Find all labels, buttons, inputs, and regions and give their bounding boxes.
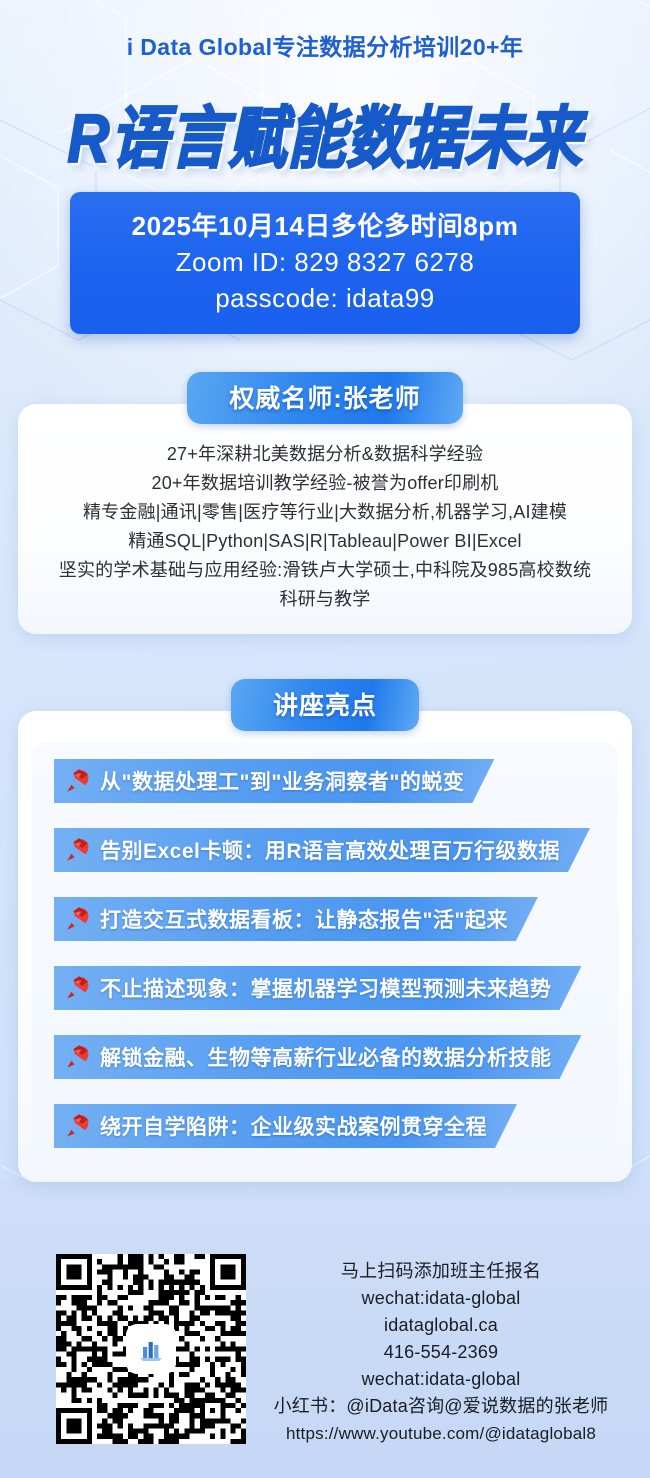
page-title: R语言赋能数据未来 bbox=[0, 84, 650, 156]
contact-wechat-alt: wechat:idata-global bbox=[246, 1366, 636, 1393]
pushpin-icon bbox=[66, 767, 92, 795]
credential-line: 精专金融|通讯|零售|医疗等行业|大数据分析,机器学习,AI建模 bbox=[30, 498, 620, 527]
meeting-info-box: 2025年10月14日多伦多时间8pm Zoom ID: 829 8327 62… bbox=[70, 192, 580, 334]
highlight-text: 告别Excel卡顿：用R语言高效处理百万行级数据 bbox=[100, 835, 560, 865]
brand-tagline: i Data Global专注数据分析培训20+年 bbox=[0, 0, 650, 62]
highlight-bar: 从"数据处理工"到"业务洞察者"的蜕变 bbox=[54, 759, 494, 803]
credential-line: 精通SQL|Python|SAS|R|Tableau|Power BI|Exce… bbox=[30, 527, 620, 556]
meeting-passcode: passcode: idata99 bbox=[80, 280, 570, 316]
idata-global-logo bbox=[128, 1326, 174, 1372]
meeting-zoom-id: Zoom ID: 829 8327 6278 bbox=[80, 244, 570, 280]
footer: 马上扫码添加班主任报名 wechat:idata-global idataglo… bbox=[0, 1248, 650, 1468]
contact-cta: 马上扫码添加班主任报名 bbox=[246, 1258, 636, 1285]
highlight-bar: 打造交互式数据看板：让静态报告"活"起来 bbox=[54, 897, 538, 941]
list-item: 从"数据处理工"到"业务洞察者"的蜕变 bbox=[32, 759, 618, 803]
instructor-section-tab: 权威名师:张老师 bbox=[187, 372, 462, 424]
bar-chart-icon bbox=[135, 1333, 167, 1365]
list-item: 告别Excel卡顿：用R语言高效处理百万行级数据 bbox=[32, 828, 618, 872]
credential-line: 坚实的学术基础与应用经验:滑铁卢大学硕士,中科院及985高校数统科研与教学 bbox=[30, 556, 620, 614]
instructor-section: 权威名师:张老师 27+年深耕北美数据分析&数据科学经验 20+年数据培训教学经… bbox=[18, 372, 632, 634]
credential-line: 20+年数据培训教学经验-被誉为offer印刷机 bbox=[30, 469, 620, 498]
pushpin-icon bbox=[66, 1043, 92, 1071]
list-item: 绕开自学陷阱：企业级实战案例贯穿全程 bbox=[32, 1104, 618, 1148]
highlight-text: 不止描述现象：掌握机器学习模型预测未来趋势 bbox=[100, 973, 552, 1003]
highlight-bar: 告别Excel卡顿：用R语言高效处理百万行级数据 bbox=[54, 828, 590, 872]
contact-wechat: wechat:idata-global bbox=[246, 1285, 636, 1312]
pushpin-icon bbox=[66, 836, 92, 864]
highlight-text: 绕开自学陷阱：企业级实战案例贯穿全程 bbox=[100, 1111, 487, 1141]
instructor-card: 27+年深耕北美数据分析&数据科学经验 20+年数据培训教学经验-被誉为offe… bbox=[18, 404, 632, 634]
highlights-list: 从"数据处理工"到"业务洞察者"的蜕变 告别Excel卡顿：用R语言高效处理百 bbox=[32, 743, 618, 1164]
list-item: 解锁金融、生物等高薪行业必备的数据分析技能 bbox=[32, 1035, 618, 1079]
highlights-section: 讲座亮点 从"数据处理工"到"业务洞察者"的蜕变 bbox=[18, 679, 632, 1182]
highlight-text: 打造交互式数据看板：让静态报告"活"起来 bbox=[100, 904, 508, 934]
main-title-text: R语言赋能数据未来 bbox=[68, 84, 583, 181]
credential-line: 27+年深耕北美数据分析&数据科学经验 bbox=[30, 440, 620, 469]
highlight-bar: 解锁金融、生物等高薪行业必备的数据分析技能 bbox=[54, 1035, 582, 1079]
list-item: 打造交互式数据看板：让静态报告"活"起来 bbox=[32, 897, 618, 941]
highlights-section-tab: 讲座亮点 bbox=[231, 679, 419, 731]
qr-code[interactable] bbox=[56, 1254, 246, 1444]
contact-youtube: https://www.youtube.com/@idataglobal8 bbox=[246, 1420, 636, 1447]
highlight-text: 解锁金融、生物等高薪行业必备的数据分析技能 bbox=[100, 1042, 552, 1072]
meeting-datetime: 2025年10月14日多伦多时间8pm bbox=[80, 208, 570, 244]
contact-website: idataglobal.ca bbox=[246, 1312, 636, 1339]
contact-block: 马上扫码添加班主任报名 wechat:idata-global idataglo… bbox=[246, 1258, 650, 1447]
list-item: 不止描述现象：掌握机器学习模型预测未来趋势 bbox=[32, 966, 618, 1010]
pushpin-icon bbox=[66, 905, 92, 933]
highlight-bar: 不止描述现象：掌握机器学习模型预测未来趋势 bbox=[54, 966, 582, 1010]
pushpin-icon bbox=[66, 974, 92, 1002]
poster-root: i Data Global专注数据分析培训20+年 R语言赋能数据未来 2025… bbox=[0, 0, 650, 1478]
pushpin-icon bbox=[66, 1112, 92, 1140]
contact-phone: 416-554-2369 bbox=[246, 1339, 636, 1366]
contact-xiaohongshu: 小红书：@iData咨询@爱说数据的张老师 bbox=[246, 1393, 636, 1420]
highlights-card: 从"数据处理工"到"业务洞察者"的蜕变 告别Excel卡顿：用R语言高效处理百 bbox=[18, 711, 632, 1182]
highlight-bar: 绕开自学陷阱：企业级实战案例贯穿全程 bbox=[54, 1104, 517, 1148]
highlight-text: 从"数据处理工"到"业务洞察者"的蜕变 bbox=[100, 766, 464, 796]
